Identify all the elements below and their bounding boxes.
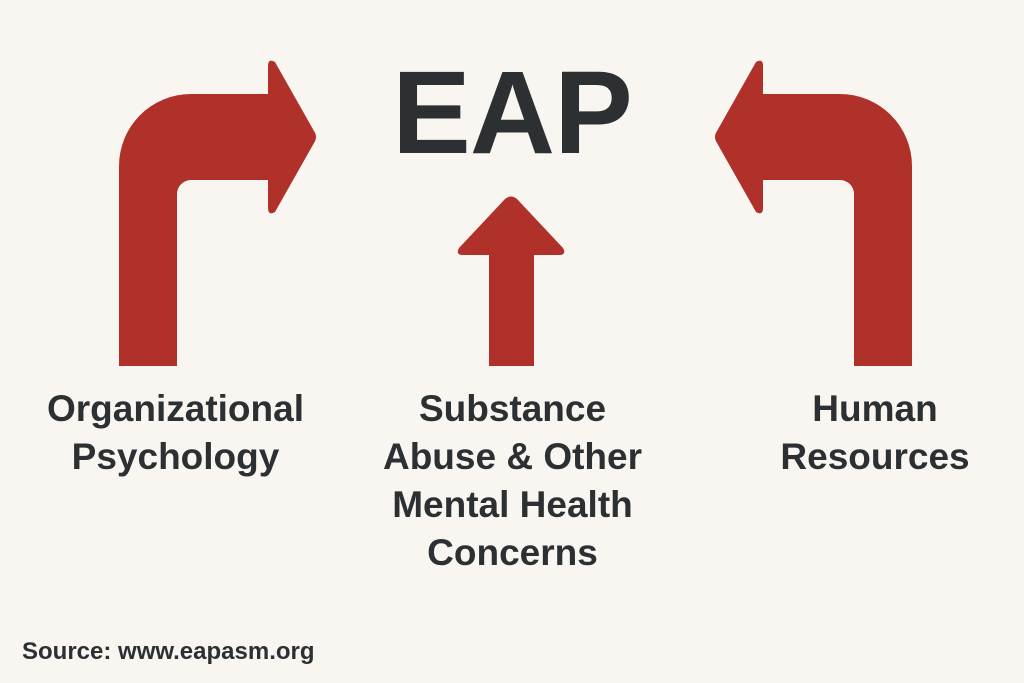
label-line: Organizational xyxy=(8,385,343,433)
label-line: Concerns xyxy=(355,529,670,577)
column-label-human-resources: Human Resources xyxy=(730,385,1020,481)
label-line: Abuse & Other xyxy=(355,433,670,481)
label-line: Mental Health xyxy=(355,481,670,529)
diagram-canvas: EAP Organizational Psychology Substance … xyxy=(0,0,1024,683)
column-label-organizational-psychology: Organizational Psychology xyxy=(8,385,343,481)
label-line: Resources xyxy=(730,433,1020,481)
arrow-up-icon xyxy=(458,197,565,367)
source-attribution: Source: www.eapasm.org xyxy=(22,637,315,667)
page-title: EAP xyxy=(0,54,1024,172)
column-label-substance-abuse-mental-health: Substance Abuse & Other Mental Health Co… xyxy=(355,385,670,577)
label-line: Substance xyxy=(355,385,670,433)
label-line: Psychology xyxy=(8,433,343,481)
label-line: Human xyxy=(730,385,1020,433)
